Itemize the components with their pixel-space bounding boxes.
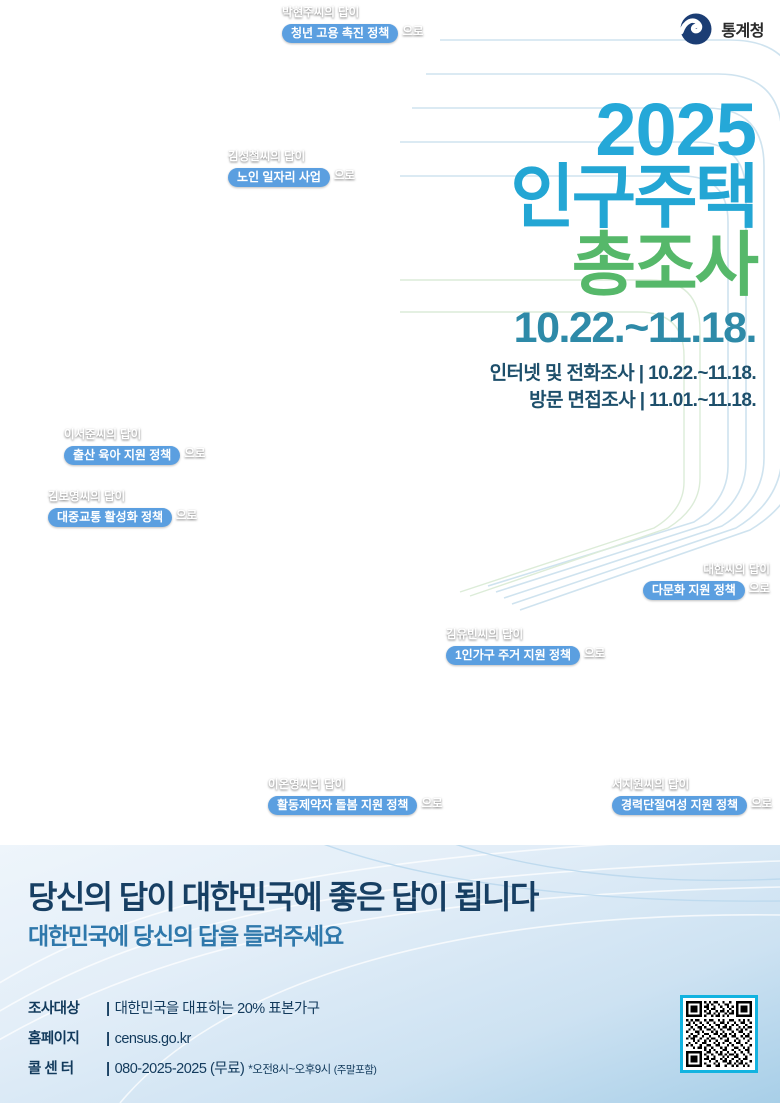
caption-suffix: 으로 bbox=[184, 449, 205, 461]
tagline-secondary: 대한민국에 당신의 답을 들려주세요 bbox=[28, 917, 343, 951]
caption-career-women: 서지원씨의 답이 경력단절여성 지원 정책 으로 bbox=[612, 780, 772, 815]
title-line-2: 총조사 bbox=[396, 231, 756, 300]
caption-name: 김유빈씨의 답이 bbox=[446, 630, 605, 642]
tagline-primary: 당신의 답이 대한민국에 좋은 답이 됩니다 bbox=[28, 872, 538, 918]
info-row-callcenter: 콜 센 터 | 080-2025-2025 (무료) *오전8시~오후9시 (주… bbox=[28, 1057, 376, 1078]
bottom-section: 당신의 답이 대한민국에 좋은 답이 됩니다 대한민국에 당신의 답을 들려주세… bbox=[0, 845, 780, 1103]
caption-name: 김보영씨의 답이 bbox=[48, 492, 197, 504]
info-label: 홈페이지 bbox=[28, 1027, 106, 1048]
caption-suffix: 으로 bbox=[749, 584, 770, 596]
info-value: 대한민국을 대표하는 20% 표본가구 bbox=[115, 997, 320, 1018]
caption-youth-employment: 박현주씨의 답이 청년 고용 촉진 정책 으로 bbox=[282, 8, 424, 43]
caption-suffix: 으로 bbox=[402, 27, 423, 39]
caption-suffix: 으로 bbox=[334, 171, 355, 183]
caption-policy-pill: 대중교통 활성화 정책 bbox=[48, 508, 172, 527]
website-link[interactable]: census.go.kr bbox=[115, 1031, 191, 1047]
caption-public-transport: 김보영씨의 답이 대중교통 활성화 정책 으로 bbox=[48, 492, 197, 527]
caption-single-household: 김유빈씨의 답이 1인가구 주거 지원 정책 으로 bbox=[446, 630, 605, 665]
census-logo: 2025 Census 센서스 100년 bbox=[18, 10, 188, 60]
caption-name: 김성철씨의 답이 bbox=[228, 152, 355, 164]
title-dates: 10.22.~11.18. bbox=[396, 304, 756, 353]
caption-suffix: 으로 bbox=[584, 649, 605, 661]
taegeuk-emblem-icon bbox=[679, 12, 713, 46]
caption-senior-jobs: 김성철씨의 답이 노인 일자리 사업 으로 bbox=[228, 152, 355, 187]
caption-care-support: 이온영씨의 답이 활동제약자 돌봄 지원 정책 으로 bbox=[268, 780, 443, 815]
survey-method-visit: 방문 면접조사 | 11.01.~11.18. bbox=[396, 388, 756, 414]
info-row-target: 조사대상 | 대한민국을 대표하는 20% 표본가구 bbox=[28, 997, 376, 1018]
caption-name: 박현주씨의 답이 bbox=[282, 8, 424, 20]
caption-name: 이서준씨의 답이 bbox=[64, 430, 206, 442]
info-separator: | bbox=[106, 1061, 110, 1077]
callcenter-weekend-note: (주말포함) bbox=[334, 1062, 377, 1077]
caption-policy-pill: 다문화 지원 정책 bbox=[643, 581, 745, 600]
photo-collage: 2025 Census 센서스 100년 bbox=[0, 0, 780, 845]
caption-multicultural: 대한씨의 답이 다문화 지원 정책 으로 bbox=[643, 565, 770, 600]
caption-policy-pill: 노인 일자리 사업 bbox=[228, 168, 330, 187]
caption-policy-pill: 경력단절여성 지원 정책 bbox=[612, 796, 747, 815]
caption-name: 대한씨의 답이 bbox=[643, 565, 770, 577]
caption-policy-pill: 출산 육아 지원 정책 bbox=[64, 446, 180, 465]
caption-name: 이온영씨의 답이 bbox=[268, 780, 443, 792]
info-row-website: 홈페이지 | census.go.kr bbox=[28, 1027, 376, 1048]
caption-name: 서지원씨의 답이 bbox=[612, 780, 772, 792]
caption-suffix: 으로 bbox=[176, 511, 197, 523]
info-label: 조사대상 bbox=[28, 997, 106, 1018]
caption-suffix: 으로 bbox=[421, 799, 442, 811]
survey-method-online: 인터넷 및 전화조사 | 10.22.~11.18. bbox=[396, 361, 756, 387]
caption-policy-pill: 청년 고용 촉진 정책 bbox=[282, 24, 398, 43]
government-logo-name: 통계청 bbox=[721, 17, 764, 41]
callcenter-number[interactable]: 080-2025-2025 (무료) bbox=[115, 1057, 245, 1078]
title-line-1: 인구주택 bbox=[396, 164, 756, 231]
title-year: 2025 bbox=[396, 96, 756, 164]
caption-policy-pill: 활동제약자 돌봄 지원 정책 bbox=[268, 796, 417, 815]
info-separator: | bbox=[106, 1001, 110, 1017]
survey-methods: 인터넷 및 전화조사 | 10.22.~11.18. 방문 면접조사 | 11.… bbox=[396, 361, 756, 413]
info-separator: | bbox=[106, 1031, 110, 1047]
caption-suffix: 으로 bbox=[751, 799, 772, 811]
qr-code-icon[interactable] bbox=[680, 995, 758, 1073]
title-block: 2025 인구주택 총조사 10.22.~11.18. 인터넷 및 전화조사 |… bbox=[396, 96, 756, 414]
qr-code-matrix bbox=[686, 1001, 752, 1067]
100-mark-icon bbox=[110, 14, 188, 60]
caption-policy-pill: 1인가구 주거 지원 정책 bbox=[446, 646, 580, 665]
caption-childcare: 이서준씨의 답이 출산 육아 지원 정책 으로 bbox=[64, 430, 206, 465]
callcenter-hours: *오전8시~오후9시 bbox=[248, 1061, 330, 1077]
government-logo: 통계청 bbox=[679, 12, 764, 46]
info-list: 조사대상 | 대한민국을 대표하는 20% 표본가구 홈페이지 | census… bbox=[28, 997, 376, 1087]
info-label: 콜 센 터 bbox=[28, 1057, 106, 1078]
census-poster: 2025 Census 센서스 100년 bbox=[0, 0, 780, 1103]
